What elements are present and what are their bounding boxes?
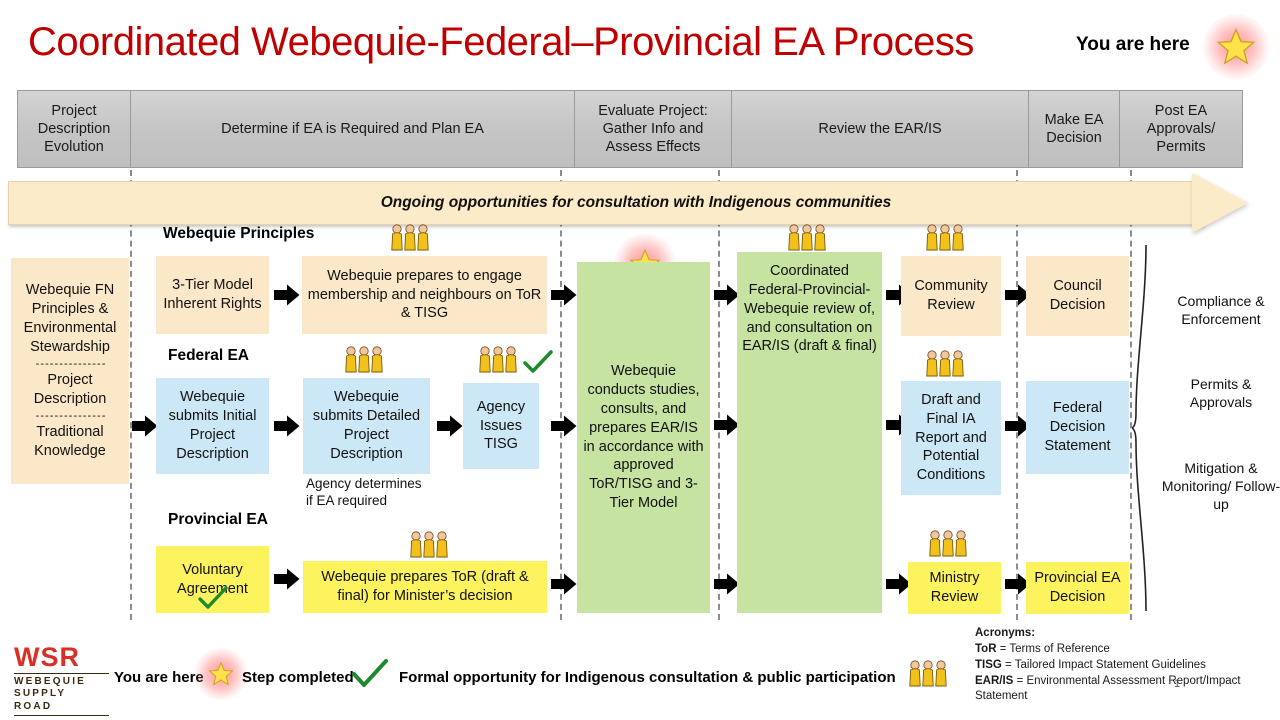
phase-header-4[interactable]: Make EA Decision xyxy=(1028,90,1120,168)
step-provincial-ea-decision[interactable]: Provincial EA Decision xyxy=(1026,562,1129,614)
left-col-line-8: Traditional xyxy=(36,423,103,442)
step-ministry-review[interactable]: Ministry Review xyxy=(908,562,1001,614)
step-council-decision[interactable]: Council Decision xyxy=(1026,256,1129,336)
left-col-line-0: Webequie FN xyxy=(26,281,114,300)
left-col-line-3: Stewardship xyxy=(30,338,110,357)
phase-divider-3 xyxy=(718,170,720,620)
acronym-row-1: TISG = Tailored Impact Statement Guideli… xyxy=(975,658,1280,674)
wsr-logo-rule-top xyxy=(14,673,109,674)
phase-header-1[interactable]: Determine if EA is Required and Plan EA xyxy=(130,90,575,168)
arrow-p2 xyxy=(551,573,577,595)
consultation-banner: Ongoing opportunities for consultation w… xyxy=(8,181,1246,225)
wsr-logo-initials: WSR xyxy=(14,645,109,671)
legend-label-formal-opportunity: Formal opportunity for Indigenous consul… xyxy=(399,669,896,686)
check-icon-voluntary-agreement xyxy=(198,586,228,612)
wsr-logo-line3: SUPPLY ROAD xyxy=(14,688,109,713)
post-ea-brace xyxy=(1132,243,1162,613)
people-icon-agency-tisg xyxy=(478,346,522,374)
step-webequie-prepares-engage[interactable]: Webequie prepares to engage membership a… xyxy=(302,256,547,334)
people-icon-row1 xyxy=(390,224,434,252)
people-icon-community-review xyxy=(925,224,969,252)
left-col-line-2: Environmental xyxy=(24,319,117,338)
left-col-divider-2: - - - - - - - - - - - - - - - xyxy=(36,409,105,423)
arrow-f3 xyxy=(551,415,577,437)
step-evaluate-project-green[interactable]: Webequie conducts studies, consults, and… xyxy=(577,262,710,613)
phase-header-5[interactable]: Post EA Approvals/ Permits xyxy=(1119,90,1243,168)
arrow-w1 xyxy=(274,284,300,306)
step-3-tier-model[interactable]: 3-Tier Model Inherent Rights xyxy=(156,256,269,334)
lane-label-provincial: Provincial EA xyxy=(168,511,268,529)
people-icon-green2 xyxy=(787,224,831,252)
step-federal-decision-statement[interactable]: Federal Decision Statement xyxy=(1026,381,1129,474)
legend-check-icon xyxy=(352,659,388,689)
step-coordinated-review-green[interactable]: Coordinated Federal-Provincial-Webequie … xyxy=(737,252,882,613)
left-col-line-1: Principles & xyxy=(32,300,109,319)
acronym-def-2: = Environmental Assessment Report/Impact… xyxy=(975,675,1241,703)
you-are-here-label: You are here xyxy=(1076,34,1190,56)
arrow-f2 xyxy=(437,415,463,437)
page-title: Coordinated Webequie-Federal–Provincial … xyxy=(28,20,974,65)
acronym-term-0: ToR xyxy=(975,643,997,655)
acronym-def-0: = Terms of Reference xyxy=(997,643,1110,655)
people-icon-ia-report xyxy=(925,350,969,378)
slide-canvas: Coordinated Webequie-Federal–Provincial … xyxy=(0,0,1280,720)
check-icon-agency-tisg xyxy=(523,350,553,376)
project-description-evolution-box[interactable]: Webequie FN Principles & Environmental S… xyxy=(11,258,129,484)
acronym-row-2: EAR/IS = Environmental Assessment Report… xyxy=(975,674,1280,706)
wsr-logo: WSR WEBEQUIE SUPPLY ROAD xyxy=(14,645,109,716)
step-community-review[interactable]: Community Review xyxy=(901,256,1001,336)
acronym-row-0: ToR = Terms of Reference xyxy=(975,642,1280,658)
people-icon-ministry-review xyxy=(928,530,972,558)
left-col-line-6: Description xyxy=(34,390,107,409)
post-ea-item-0: Compliance & Enforcement xyxy=(1160,293,1280,329)
people-icon-tor xyxy=(409,531,453,559)
wsr-logo-line2: WEBEQUIE xyxy=(14,676,109,689)
you-are-here-star-icon xyxy=(1203,14,1269,80)
legend-people-icon xyxy=(908,660,952,688)
consultation-banner-label: Ongoing opportunities for consultation w… xyxy=(8,181,1204,225)
arrow-p1 xyxy=(274,568,300,590)
step-initial-project-description[interactable]: Webequie submits Initial Project Descrip… xyxy=(156,378,269,474)
acronyms-heading: Acronyms: xyxy=(975,626,1280,642)
people-icon-detailed-pd xyxy=(344,346,388,374)
step-agency-issues-tisg[interactable]: Agency Issues TISG xyxy=(463,383,539,469)
page-number: 1 xyxy=(1174,678,1180,690)
step-draft-final-ia-report[interactable]: Draft and Final IA Report and Potential … xyxy=(901,381,1001,495)
lane-label-webequie: Webequie Principles xyxy=(163,225,314,243)
step-webequie-prepares-tor[interactable]: Webequie prepares ToR (draft & final) fo… xyxy=(303,561,547,613)
lane-label-federal: Federal EA xyxy=(168,347,249,365)
acronym-term-1: TISG xyxy=(975,659,1002,671)
phase-header-0[interactable]: Project Description Evolution xyxy=(17,90,131,168)
agency-determines-note: Agency determines if EA required xyxy=(306,476,426,510)
arrow-left-to-federal xyxy=(132,415,158,437)
arrow-f1 xyxy=(274,415,300,437)
left-col-line-9: Knowledge xyxy=(34,442,106,461)
phase-divider-4 xyxy=(1016,170,1018,620)
post-ea-item-1: Permits & Approvals xyxy=(1160,376,1280,412)
step-detailed-project-description[interactable]: Webequie submits Detailed Project Descri… xyxy=(303,378,430,474)
post-ea-item-2: Mitigation & Monitoring/ Follow-up xyxy=(1160,460,1280,514)
acronym-term-2: EAR/IS xyxy=(975,675,1013,687)
phase-header-2[interactable]: Evaluate Project: Gather Info and Assess… xyxy=(574,90,732,168)
phase-header-3[interactable]: Review the EAR/IS xyxy=(731,90,1029,168)
left-col-divider-1: - - - - - - - - - - - - - - - xyxy=(36,357,105,371)
left-col-line-5: Project xyxy=(47,371,92,390)
acronym-def-1: = Tailored Impact Statement Guidelines xyxy=(1002,659,1206,671)
phase-header-band: Project Description Evolution Determine … xyxy=(17,90,1242,168)
arrow-w2 xyxy=(551,284,577,306)
legend-label-you-are-here: You are here xyxy=(114,669,204,686)
legend-label-step-completed: Step completed xyxy=(242,669,354,686)
phase-divider-1 xyxy=(130,170,132,620)
acronyms-block: Acronyms: ToR = Terms of Reference TISG … xyxy=(975,626,1280,705)
phase-divider-2 xyxy=(560,170,562,620)
wsr-logo-rule-bottom xyxy=(14,715,109,716)
